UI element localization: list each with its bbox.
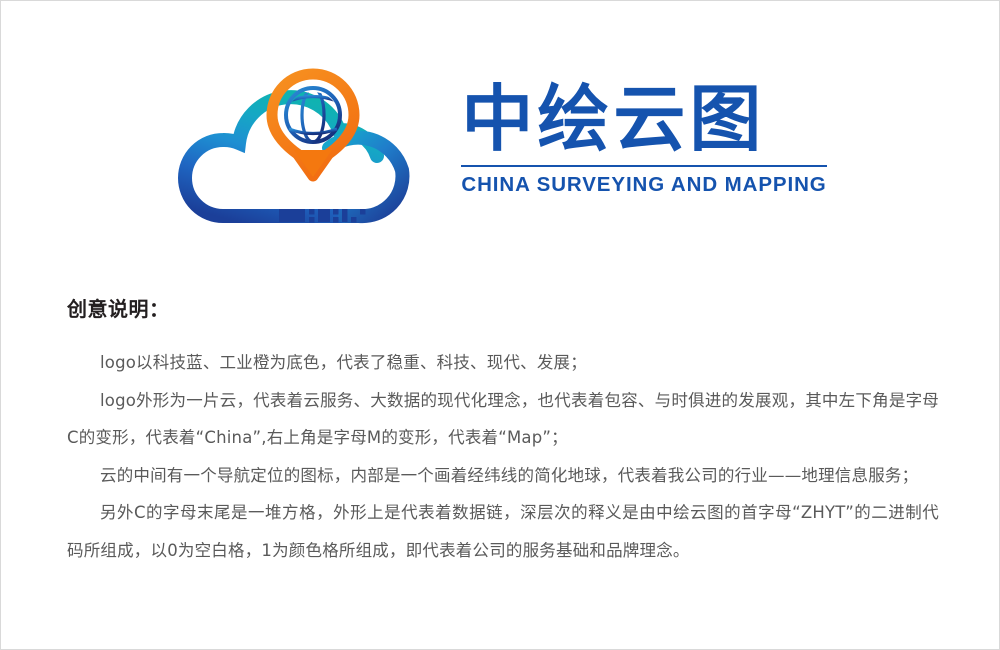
logo-inner: 中绘云图 CHINA SURVEYING AND MAPPING [163,44,826,229]
description-paragraph: logo以科技蓝、工业橙为底色，代表了稳重、科技、现代、发展； [67,344,939,382]
creative-description-page: 中绘云图 CHINA SURVEYING AND MAPPING 创意说明： l… [0,0,1000,650]
creative-description-block: 创意说明： logo以科技蓝、工业橙为底色，代表了稳重、科技、现代、发展； lo… [67,293,939,570]
brand-divider-rule [461,165,826,167]
brand-name-cn: 中绘云图 [461,81,826,157]
description-paragraph: 云的中间有一个导航定位的图标，内部是一个画着经纬线的简化地球，代表着我公司的行业… [67,457,939,495]
section-heading: 创意说明： [67,293,939,322]
logo-block: 中绘云图 CHINA SURVEYING AND MAPPING [1,1,1000,271]
globe-icon [286,88,340,142]
logo-wordmark: 中绘云图 CHINA SURVEYING AND MAPPING [461,75,826,196]
description-paragraph: logo外形为一片云，代表着云服务、大数据的现代化理念，也代表着包容、与时俱进的… [67,382,939,457]
brand-name-en: CHINA SURVEYING AND MAPPING [461,173,826,197]
description-paragraph: 另外C的字母末尾是一堆方格，外形上是代表着数据链，深层次的释义是由中绘云图的首字… [67,494,939,569]
cloud-globe-pin-icon [163,44,433,229]
